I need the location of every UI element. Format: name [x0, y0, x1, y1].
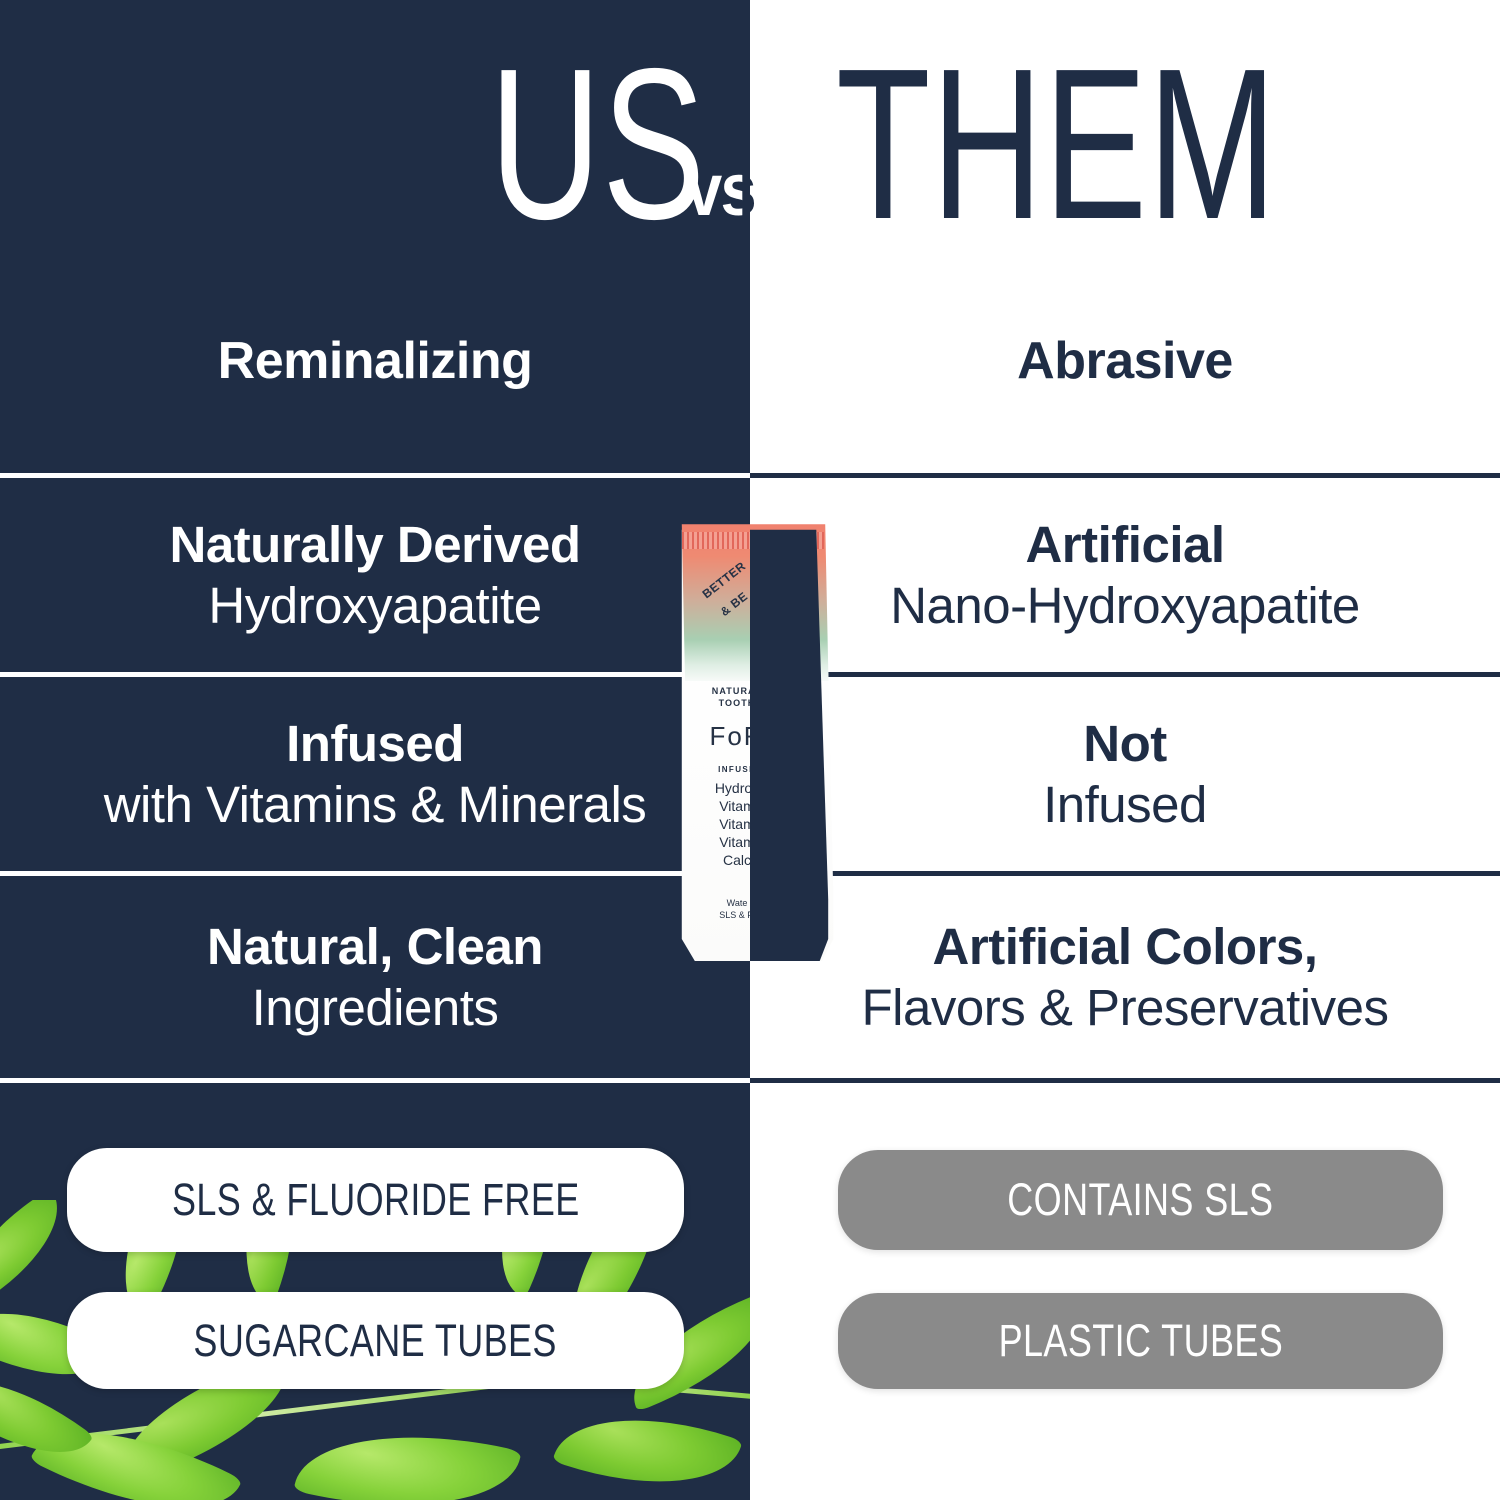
row-4-them-cell: Artificial Colors, Flavors & Preservativ… — [750, 876, 1500, 1078]
product-tube-image: BETTER & BE NATURAL TOOTH FoR INFUSE Hyd… — [672, 521, 835, 961]
row-4-them-subtitle: Flavors & Preservatives — [862, 977, 1389, 1038]
row-2-them-title: Artificial — [1025, 514, 1224, 575]
row-2-us-title: Naturally Derived — [169, 514, 580, 575]
row-2-us-cell: Naturally Derived Hydroxyapatite — [0, 478, 750, 672]
row-4-us-subtitle: Ingredients — [252, 977, 499, 1038]
row-2-them-cell: Artificial Nano-Hydroxyapatite — [750, 478, 1500, 672]
heading-vs: vs vs — [686, 150, 821, 230]
row-4-them-title: Artificial Colors, — [933, 916, 1318, 977]
pill-sls-fluoride-free[interactable]: SLS & FLUORIDE FREE — [67, 1148, 684, 1252]
row-3-us-subtitle: with Vitamins & Minerals — [104, 774, 647, 835]
row-divider-4-right — [750, 1078, 1500, 1083]
row-3-us-cell: Infused with Vitamins & Minerals — [0, 677, 750, 871]
pill-plastic-tubes[interactable]: PLASTIC TUBES — [838, 1293, 1443, 1389]
row-3-them-title: Not — [1083, 713, 1166, 774]
pill-sugarcane-tubes[interactable]: SUGARCANE TUBES — [67, 1292, 684, 1389]
row-2-us-subtitle: Hydroxyapatite — [208, 575, 541, 636]
row-1-them-title: Abrasive — [1017, 331, 1233, 392]
heading-us: US — [198, 44, 706, 244]
row-1-us-cell: Reminalizing — [0, 250, 750, 473]
pill-sugarcane-tubes-label: SUGARCANE TUBES — [194, 1317, 557, 1365]
pill-plastic-tubes-label: PLASTIC TUBES — [998, 1317, 1283, 1365]
pill-contains-sls-label: CONTAINS SLS — [1007, 1176, 1273, 1224]
row-4-us-cell: Natural, Clean Ingredients — [0, 876, 750, 1078]
row-3-them-cell: Not Infused — [750, 677, 1500, 871]
row-3-us-title: Infused — [286, 713, 464, 774]
row-4-us-title: Natural, Clean — [207, 916, 543, 977]
comparison-infographic: US vs vs THEM Reminalizing Abrasive Natu… — [0, 0, 1500, 1500]
row-2-them-subtitle: Nano-Hydroxyapatite — [890, 575, 1360, 636]
row-3-them-subtitle: Infused — [1043, 774, 1207, 835]
header: US vs vs THEM — [0, 0, 1500, 250]
row-divider-4 — [0, 1078, 1500, 1083]
row-1-them-cell: Abrasive — [750, 250, 1500, 473]
heading-them: THEM — [836, 44, 1484, 244]
row-divider-4-left — [0, 1078, 750, 1083]
pill-contains-sls[interactable]: CONTAINS SLS — [838, 1150, 1443, 1250]
comparison-row-1: Reminalizing Abrasive — [0, 250, 1500, 473]
pill-sls-fluoride-free-label: SLS & FLUORIDE FREE — [172, 1176, 580, 1224]
row-1-us-title: Reminalizing — [218, 331, 533, 392]
